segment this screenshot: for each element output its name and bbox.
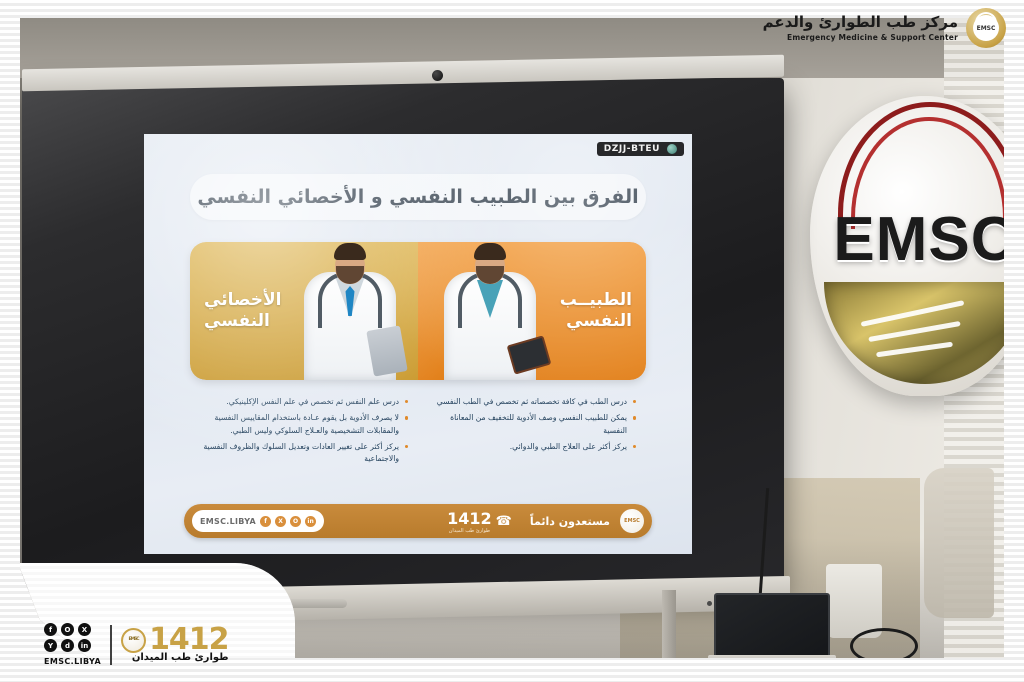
share-status-icon <box>667 144 677 154</box>
card-label-psychologist: الأخصائي النفسي <box>204 290 281 333</box>
footer-phone-caption: طوارئ طب الميدان <box>447 528 492 534</box>
instagram-icon: O <box>290 516 301 527</box>
wall-display: DZJJ-BTEU الفرق بين الطبيب النفسي و الأخ… <box>22 78 784 590</box>
header-emsc-mark-icon: EMSC <box>966 8 1006 48</box>
footer-brand: EMSC.LIBYA <box>200 517 256 526</box>
watermark-social-row: f O X <box>44 623 101 636</box>
share-code-text: DZJJ-BTEU <box>604 144 660 154</box>
tiktok-icon: d <box>61 639 74 652</box>
watermark-caption: طوارئ طب الميدان <box>132 652 229 663</box>
linkedin-icon: in <box>78 639 91 652</box>
card-psychiatrist: الطبيــب النفسي <box>418 242 646 380</box>
header-logo: مركز طب الطوارئ والدعم Emergency Medicin… <box>763 8 1006 48</box>
footer-social-pill: EMSC.LIBYA f X O in <box>192 510 324 532</box>
logo-hand-line <box>869 321 962 342</box>
watermark-divider <box>110 625 112 665</box>
photograph: EMSC DZJJ-BTEU الفرق بين الطبيب النفسي و… <box>20 18 1004 658</box>
x-icon: X <box>275 516 286 527</box>
footer-slogan: مستعدون دائماً <box>530 515 610 528</box>
doctor-hair <box>474 243 506 260</box>
header-arch-icon <box>975 12 997 23</box>
instagram-icon: O <box>61 623 74 636</box>
list-item: يركز أكثر على العلاج الطبي والدوائي. <box>428 441 636 453</box>
header-text-block: مركز طب الطوارئ والدعم Emergency Medicin… <box>763 14 958 42</box>
bullet-columns: درس الطب في كافة تخصصاته ثم تخصص في الطب… <box>190 390 646 500</box>
laptop-keyboard <box>708 655 836 658</box>
persona-cards: الأخصائي النفسي الطبيــب النفسي <box>190 242 646 380</box>
column-psychologist: درس علم النفس ثم تخصص في علم النفس الإكل… <box>190 390 418 500</box>
watermark-emsc-badge-icon: EMSC <box>121 628 146 653</box>
presentation-slide: DZJJ-BTEU الفرق بين الطبيب النفسي و الأخ… <box>144 134 692 554</box>
watermark-number-row: EMSC 1412 <box>121 626 229 655</box>
watermark-hotline: EMSC 1412 طوارئ طب الميدان <box>121 626 229 664</box>
watermark-badge: f O X Y d in EMSC.LIBYA EMSC 1412 طوارئ … <box>44 623 229 666</box>
list-item: لا يصرف الأدوية بل يقوم عـادة باستخدام ا… <box>200 412 408 437</box>
laptop <box>708 593 836 658</box>
watermark-brand: EMSC.LIBYA <box>44 657 101 666</box>
column-psychiatrist: درس الطب في كافة تخصصاته ثم تخصص في الطب… <box>418 390 646 500</box>
laptop-screen <box>714 593 830 658</box>
camera-icon <box>432 70 443 81</box>
wall-logo-text: EMSC <box>810 204 1004 275</box>
header-arabic-title: مركز طب الطوارئ والدعم <box>763 14 958 31</box>
x-icon: X <box>78 623 91 636</box>
doctor-illustration <box>300 242 400 380</box>
coiled-cable <box>850 628 918 658</box>
doctor-hair <box>334 243 366 260</box>
footer-emsc-logo-icon: EMSC <box>620 509 644 533</box>
watermark-socials: f O X Y d in EMSC.LIBYA <box>44 623 101 666</box>
logo-hand-line <box>876 342 953 358</box>
card-label-psychiatrist: الطبيــب النفسي <box>560 290 632 333</box>
bullet-list: درس علم النفس ثم تخصص في علم النفس الإكل… <box>200 396 408 465</box>
bullet-list: درس الطب في كافة تخصصاته ثم تخصص في الطب… <box>428 396 636 453</box>
facebook-icon: f <box>260 516 271 527</box>
display-stand-leg-right <box>662 590 676 658</box>
wall-emsc-logo: EMSC <box>810 96 1004 396</box>
linkedin-icon: in <box>305 516 316 527</box>
watermark-number: 1412 <box>149 626 229 655</box>
footer-phone: ☎ 1412 طوارئ طب الميدان <box>447 509 512 534</box>
share-code-badge: DZJJ-BTEU <box>597 142 684 156</box>
list-item: يركز أكثر على تغيير العادات وتعديل السلو… <box>200 441 408 466</box>
header-english-title: Emergency Medicine & Support Center <box>763 33 958 42</box>
youtube-icon: Y <box>44 639 57 652</box>
watermark-social-row: Y d in <box>44 639 101 652</box>
chair <box>924 468 994 618</box>
list-item: درس الطب في كافة تخصصاته ثم تخصص في الطب… <box>428 396 636 408</box>
footer-phone-number: 1412 <box>447 509 492 528</box>
list-item: درس علم النفس ثم تخصص في علم النفس الإكل… <box>200 396 408 408</box>
slide-title: الفرق بين الطبيب النفسي و الأخصائي النفس… <box>190 174 646 220</box>
card-psychologist: الأخصائي النفسي <box>190 242 418 380</box>
slide-footer-bar: EMSC مستعدون دائماً ☎ 1412 طوارئ طب المي… <box>184 504 652 538</box>
clipboard-icon <box>366 325 407 376</box>
photo-frame: EMSC DZJJ-BTEU الفرق بين الطبيب النفسي و… <box>0 0 1024 682</box>
phone-icon: ☎ <box>496 514 512 529</box>
facebook-icon: f <box>44 623 57 636</box>
list-item: يمكن للطبيب النفسي وصف الأدوية للتخفيف م… <box>428 412 636 437</box>
logo-hand-icon <box>824 282 1004 384</box>
doctor-illustration <box>440 242 540 380</box>
